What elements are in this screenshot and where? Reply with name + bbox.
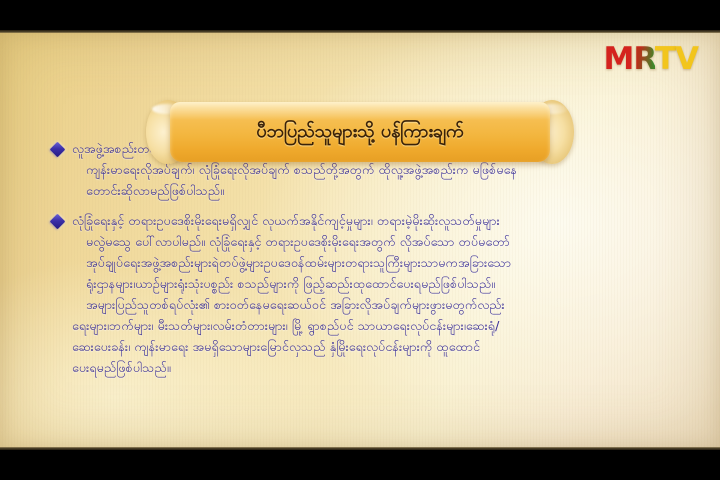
bullet-item: လုံခြုံရေးနှင့် တရားဥပဒေစိုးမိုးရေးမရှိလ… <box>52 210 676 378</box>
page-title: ပီဘပြည်သူများသို့ ပန်ကြားချက် <box>182 102 538 162</box>
paragraph-line: မလွဲမသွေ ပေါ်လာပါမည်။ လုံခြုံရေးနှင့် တရ… <box>72 231 676 252</box>
paragraph-line: အုပ်ချုပ်ရေးအဖွဲ့အစည်းများရဲတပ်ဖွဲ့များဥ… <box>72 252 676 273</box>
mrtv-logo: MRTV <box>604 44 699 75</box>
broadcast-screen: MRTV ပီဘပြည်သူများသို့ ပန်ကြားချက် လူအဖွ… <box>0 0 720 480</box>
paragraph-line: ရေးများ၊ဘက်များ၊ မီးသတ်များ၊လမ်းတံတားမျာ… <box>72 315 676 336</box>
letterbox-bar-top <box>0 0 720 32</box>
logo-letter-t: T <box>655 41 675 77</box>
diamond-bullet-icon <box>50 214 66 230</box>
letterbox-edge-bottom <box>0 447 720 450</box>
content-body: လူအဖွဲ့အစည်းတစ်ခုဖြစ်လာလျှင် စားဝတ်နေရေး… <box>52 138 676 387</box>
logo-letter-r: R <box>633 41 654 77</box>
paragraph-line: ရုံးဌာနများ၊ယာဉ်များရုံးသုံးပစ္စည်း စသည်… <box>72 273 676 294</box>
paragraph-line: ဆေးပေးခန်း၊ ကျန်းမာရေး အမရှိသောများမြောင… <box>72 336 676 357</box>
diamond-bullet-icon <box>50 142 66 158</box>
slide-stage: MRTV ပီဘပြည်သူများသို့ ပန်ကြားချက် လူအဖွ… <box>0 32 720 448</box>
bullet-paragraph: လုံခြုံရေးနှင့် တရားဥပဒေစိုးမိုးရေးမရှိလ… <box>72 210 676 378</box>
title-banner: ပီဘပြည်သူများသို့ ပန်ကြားချက် <box>152 102 568 162</box>
letterbox-edge-top <box>0 30 720 33</box>
logo-letter-v: V <box>675 41 698 77</box>
paragraph-line: တောင်းဆိုလာမည်ဖြစ်ပါသည်။ <box>72 180 676 201</box>
paragraph-line: လုံခြုံရေးနှင့် တရားဥပဒေစိုးမိုးရေးမရှိလ… <box>72 210 676 231</box>
paragraph-line: ပေးရမည်ဖြစ်ပါသည်။ <box>72 357 676 378</box>
paragraph-line: အများပြည်သူတစ်ရပ်လုံး၏ စားဝတ်နေမရေးဆယ်ဝင… <box>72 294 676 315</box>
logo-letter-m: M <box>604 41 634 77</box>
letterbox-bar-bottom <box>0 448 720 480</box>
